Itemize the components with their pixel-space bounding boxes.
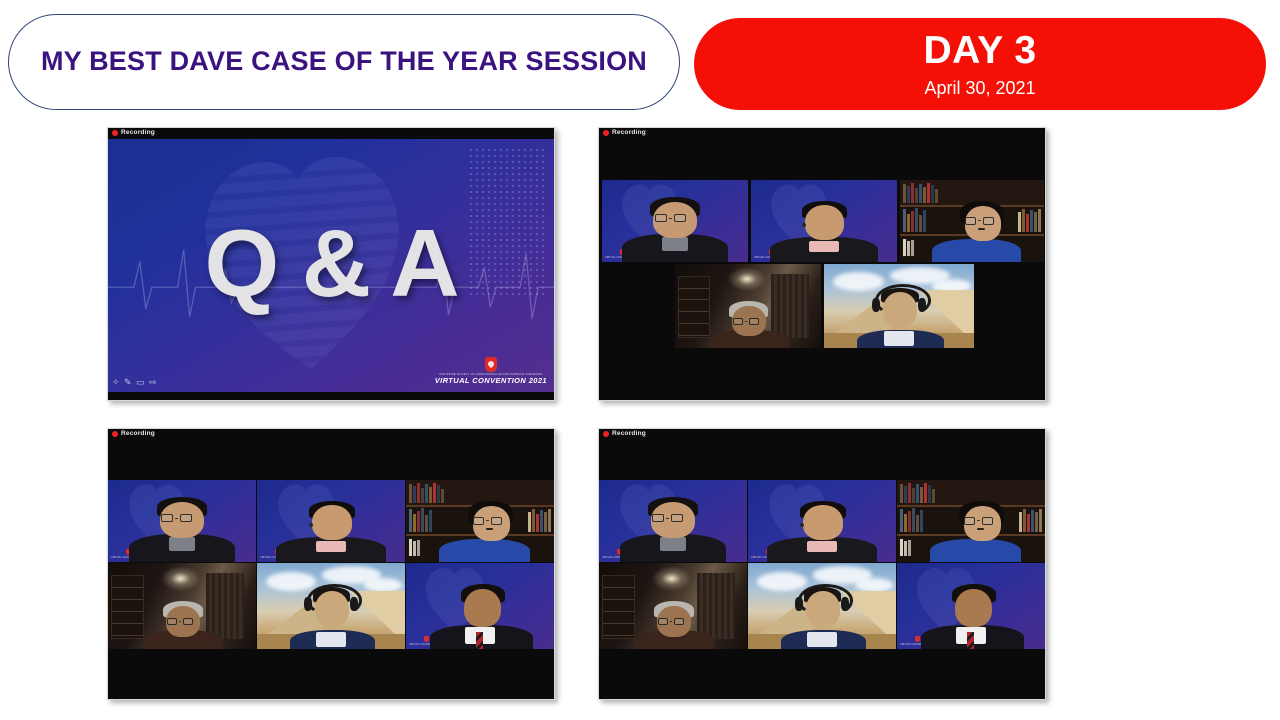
- participant-tile-active-speaker[interactable]: [748, 563, 896, 649]
- session-title-pill: MY BEST DAVE CASE OF THE YEAR SESSION: [8, 14, 680, 110]
- day-label: DAY 3: [923, 31, 1036, 70]
- recording-label: Recording: [612, 430, 646, 437]
- recording-indicator: Recording: [112, 129, 155, 136]
- recording-indicator: Recording: [112, 430, 155, 437]
- recording-label: Recording: [121, 129, 155, 136]
- recording-bar: [599, 429, 1045, 440]
- participant-avatar: [406, 563, 554, 649]
- recording-indicator: Recording: [603, 129, 646, 136]
- participant-avatar: [751, 180, 897, 262]
- page-title: MY BEST DAVE CASE OF THE YEAR SESSION: [15, 46, 673, 78]
- participant-tile[interactable]: [900, 180, 1044, 262]
- recording-dot-icon: [112, 431, 118, 437]
- participant-avatar: [824, 264, 974, 348]
- participant-tile[interactable]: VIRTUAL CONVENTION 2021: [602, 180, 748, 262]
- necktie: [967, 632, 974, 649]
- qa-headline: Q & A: [108, 208, 554, 318]
- participant-tile[interactable]: VIRTUAL CONVENTION 2021: [257, 480, 405, 562]
- headphone-earcup-right: [841, 597, 849, 611]
- participant-avatar: [748, 480, 896, 562]
- recording-bar: [108, 429, 554, 440]
- headphone-earcup-left: [872, 298, 880, 312]
- participant-avatar: [406, 480, 554, 562]
- recording-indicator: Recording: [603, 430, 646, 437]
- participant-tile[interactable]: VIRTUAL CONVENTION 2021: [599, 480, 747, 562]
- participant-avatar: [599, 480, 747, 562]
- convention-branding: PHILIPPINE SOCIETY OF CARDIOVASCULAR AND…: [435, 357, 547, 385]
- annotation-tools-icon[interactable]: ✧ ✎ ▭ ⇨: [112, 377, 158, 388]
- participant-avatar: [602, 180, 748, 262]
- participant-avatar: [257, 563, 405, 649]
- zoom-grid-six-participants-b[interactable]: Recording VIRTUAL CONVENTION 2021 VIRTUA…: [598, 428, 1046, 700]
- participant-tile[interactable]: VIRTUAL CONVENTION 2021: [108, 480, 256, 562]
- recording-bar: [108, 128, 554, 139]
- recording-dot-icon: [603, 130, 609, 136]
- recording-dot-icon: [603, 431, 609, 437]
- participant-tile[interactable]: [257, 563, 405, 649]
- participant-tile[interactable]: [108, 563, 256, 649]
- participant-avatar: [108, 480, 256, 562]
- participant-avatar: [900, 180, 1044, 262]
- participant-avatar: [108, 563, 256, 649]
- necktie: [476, 632, 483, 649]
- qa-slide-surface: Q & A PHILIPPINE SOCIETY OF CARDIOVASCUL…: [108, 139, 554, 392]
- participant-avatar: [897, 563, 1045, 649]
- zoom-gallery-five-participants[interactable]: Recording VIRTUAL CONVENTION 2021 VIRTUA…: [598, 127, 1046, 401]
- headphone-earcup-right: [918, 298, 926, 312]
- headphone-earcup-right: [350, 597, 358, 611]
- participant-avatar: [675, 264, 821, 348]
- participant-avatar: [257, 480, 405, 562]
- page-header: MY BEST DAVE CASE OF THE YEAR SESSION DA…: [0, 0, 1280, 125]
- participant-tile[interactable]: [599, 563, 747, 649]
- participant-tile[interactable]: VIRTUAL CONVENTION 2021: [748, 480, 896, 562]
- participant-avatar: [599, 563, 747, 649]
- participant-avatar: [748, 563, 896, 649]
- participant-tile[interactable]: VIRTUAL CONVENTION 2021: [751, 180, 897, 262]
- recording-dot-icon: [112, 130, 118, 136]
- participant-tile[interactable]: VIRTUAL CONVENTION 2021: [897, 563, 1045, 649]
- brand-line: VIRTUAL CONVENTION 2021: [435, 376, 547, 385]
- participant-tile[interactable]: VIRTUAL CONVENTION 2021: [406, 563, 554, 649]
- day-badge: DAY 3 April 30, 2021: [694, 18, 1266, 110]
- participant-tile[interactable]: [675, 264, 821, 348]
- convention-logo-icon: [485, 357, 497, 372]
- recording-bar: [599, 128, 1045, 139]
- recording-label: Recording: [612, 129, 646, 136]
- recording-label: Recording: [121, 430, 155, 437]
- zoom-grid-six-participants-a[interactable]: Recording VIRTUAL CONVENTION 2021 VIRTUA…: [107, 428, 555, 700]
- participant-tile-active-speaker[interactable]: [406, 480, 554, 562]
- participant-tile-active-speaker[interactable]: [824, 264, 974, 348]
- participant-tile[interactable]: [897, 480, 1045, 562]
- participant-avatar: [897, 480, 1045, 562]
- qa-slide-panel[interactable]: Recording: [107, 127, 555, 401]
- day-date: April 30, 2021: [924, 79, 1035, 97]
